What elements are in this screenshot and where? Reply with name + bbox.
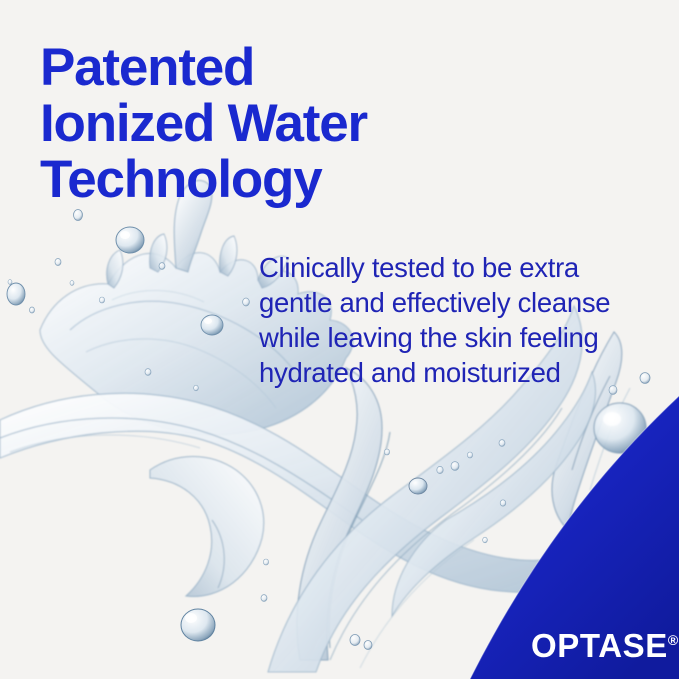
registered-trademark-icon: ® xyxy=(668,632,678,648)
product-feature-card: Patented Ionized Water Technology Clinic… xyxy=(0,0,679,679)
logo-wordmark: OPTASE xyxy=(531,627,668,664)
body-copy: Clinically tested to be extra gentle and… xyxy=(259,250,651,390)
optase-logo: OPTASE® xyxy=(531,623,678,663)
headline: Patented Ionized Water Technology xyxy=(40,40,470,208)
